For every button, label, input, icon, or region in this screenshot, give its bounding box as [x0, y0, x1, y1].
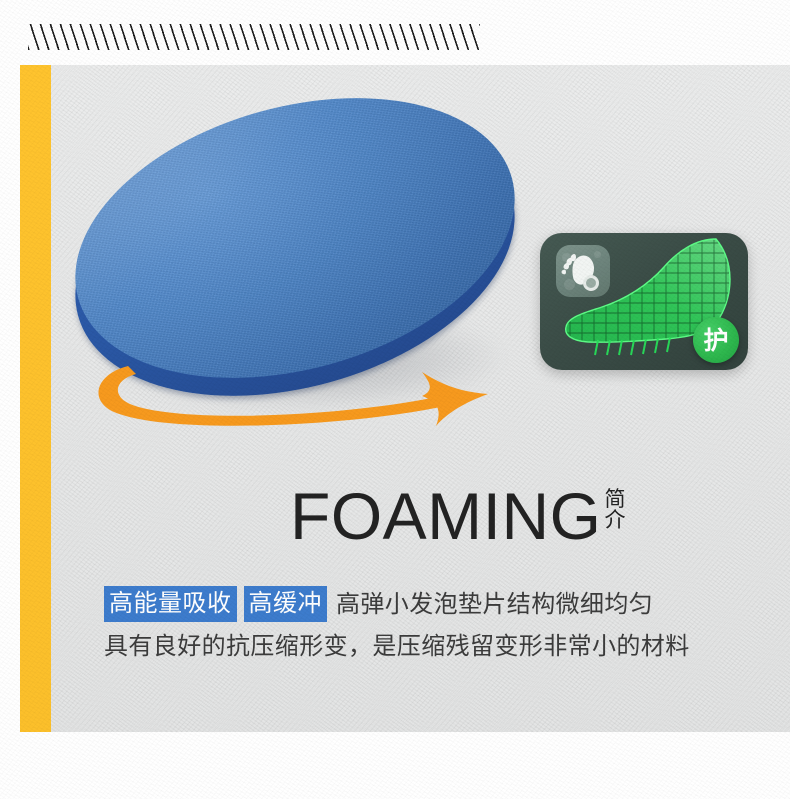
feature-text-line-2: 具有良好的抗压缩形变，是压缩残留变形非常小的材料	[104, 631, 690, 662]
feature-badge-row: 高能量吸收 高缓冲 高弹小发泡垫片结构微细均匀	[104, 586, 724, 622]
feature-badge-energy-absorption: 高能量吸收	[104, 586, 237, 622]
diagonal-hatch-rule	[28, 24, 480, 50]
foot-wireframe-panel: 护	[540, 233, 748, 370]
feature-copy-block: 高能量吸收 高缓冲 高弹小发泡垫片结构微细均匀 具有良好的抗压缩形变，是压缩残留…	[104, 586, 724, 662]
page-title: FOAMING 简 介	[290, 485, 626, 548]
page-title-sub-bottom: 介	[605, 510, 626, 531]
feature-text-line-1: 高弹小发泡垫片结构微细均匀	[336, 589, 653, 620]
page-title-sub-top: 简	[605, 489, 626, 510]
yellow-accent-bar	[20, 65, 51, 732]
feature-text-row-2: 具有良好的抗压缩形变，是压缩残留变形非常小的材料	[104, 631, 724, 662]
page-title-main: FOAMING	[290, 485, 602, 548]
rotation-arrow-icon	[70, 330, 540, 430]
footprint-icon	[556, 245, 610, 297]
feature-badge-cushioning: 高缓冲	[244, 586, 328, 622]
page-title-sub: 简 介	[605, 489, 626, 532]
protection-badge-label: 护	[703, 328, 728, 353]
protection-badge: 护	[693, 317, 739, 363]
